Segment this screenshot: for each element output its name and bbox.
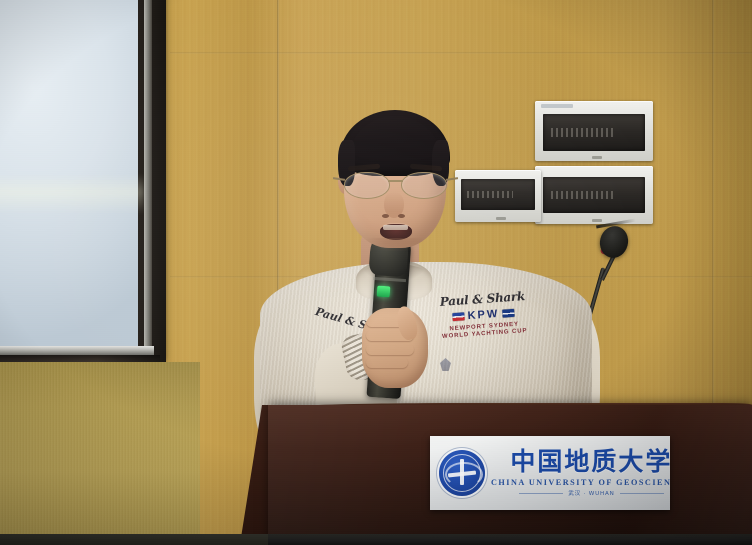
university-sign: 中国地质大学 CHINA UNIVERSITY OF GEOSCIENCES 武… (430, 436, 670, 510)
university-name-english: CHINA UNIVERSITY OF GEOSCIENCES (491, 478, 670, 487)
sign-divider: 武汉 · WUHAN (491, 489, 670, 497)
wall-seam-upper (170, 52, 752, 54)
eyeglass-temple-left (333, 177, 345, 180)
projection-screen-frame (0, 0, 166, 362)
university-emblem-icon (439, 450, 485, 496)
divider-line-right (620, 493, 664, 494)
university-campus-line: 武汉 · WUHAN (568, 489, 614, 497)
eyeglass-bridge (388, 180, 403, 182)
foreground-bottom-edge-left (0, 534, 268, 545)
divider-line-left (519, 493, 563, 494)
brand-mark-text: KPW (467, 308, 499, 322)
photo-scene: Paul & Shark KPW NEWPORT SYDNEY WORLD YA… (0, 0, 752, 545)
wall-below-screen (0, 362, 200, 545)
eyeglass-lens-right (401, 172, 447, 199)
screen-glare (0, 174, 144, 214)
finger (366, 344, 414, 355)
nostril-left (382, 214, 389, 218)
eyeglass-temple-right (446, 177, 458, 180)
projection-screen-surface (0, 0, 138, 346)
finger (366, 357, 408, 368)
nostril-right (398, 214, 405, 218)
microphone-power-led (377, 286, 391, 298)
screen-rail-shadow (0, 355, 160, 362)
screen-side-trim (144, 0, 152, 354)
flag-icon-left (452, 312, 465, 321)
university-sign-text: 中国地质大学 CHINA UNIVERSITY OF GEOSCIENCES 武… (485, 449, 670, 497)
flag-icon-right (502, 309, 515, 318)
jacket-brand-print: Paul & Shark KPW NEWPORT SYDNEY WORLD YA… (434, 289, 534, 358)
university-name-chinese: 中国地质大学 (491, 449, 670, 475)
presenter: Paul & Shark KPW NEWPORT SYDNEY WORLD YA… (258, 110, 598, 430)
teeth (383, 225, 408, 230)
eyeglass-lens-left (344, 172, 390, 199)
panel-label-strip (541, 104, 573, 108)
chin-shadow (366, 238, 426, 252)
emblem-vertical-bar (460, 459, 464, 485)
screen-bottom-rail (0, 346, 154, 355)
